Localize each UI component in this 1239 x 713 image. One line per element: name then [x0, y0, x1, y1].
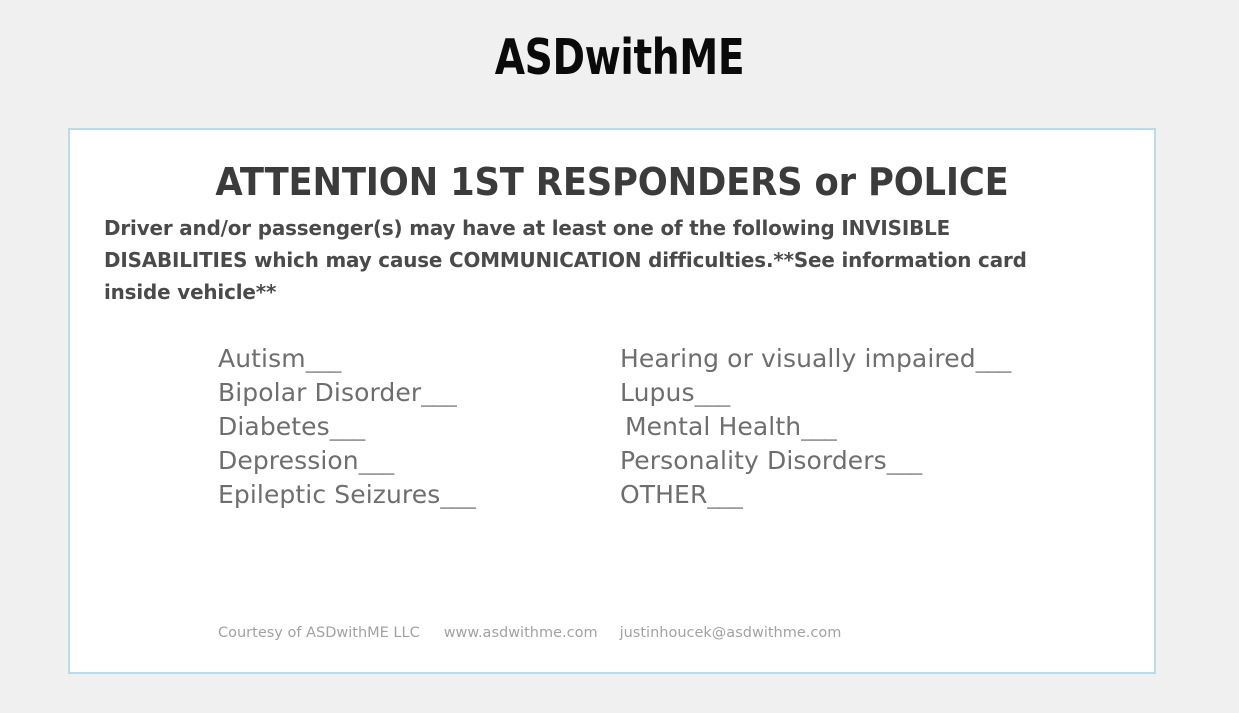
- footer-email-link[interactable]: justinhoucek@asdwithme.com: [620, 623, 842, 643]
- condition-blank-line[interactable]: ___: [330, 412, 365, 441]
- condition-item[interactable]: Autism___: [218, 342, 475, 376]
- body-line-3: inside vehicle**: [104, 276, 1101, 308]
- body-line-2: DISABILITIES which may cause COMMUNICATI…: [104, 244, 1101, 276]
- body-line-1: Driver and/or passenger(s) may have at l…: [104, 212, 1101, 244]
- condition-blank-line[interactable]: ___: [801, 412, 836, 441]
- condition-item[interactable]: OTHER___: [620, 478, 1010, 512]
- conditions-column-right: Hearing or visually impaired___ Lupus___…: [620, 342, 1010, 512]
- condition-item[interactable]: Bipolar Disorder___: [218, 376, 475, 410]
- condition-label: Hearing or visually impaired: [620, 344, 976, 373]
- condition-blank-line[interactable]: ___: [306, 344, 341, 373]
- page-title: ASDwithME: [124, 30, 1115, 86]
- condition-item[interactable]: Epileptic Seizures___: [218, 478, 475, 512]
- footer-website-link[interactable]: www.asdwithme.com: [444, 623, 598, 643]
- condition-label: Autism: [218, 344, 306, 373]
- condition-blank-line[interactable]: ___: [359, 446, 394, 475]
- card-heading: ATTENTION 1ST RESPONDERS or POLICE: [108, 160, 1116, 204]
- condition-label: Epileptic Seizures: [218, 480, 440, 509]
- condition-item[interactable]: Personality Disorders___: [620, 444, 1010, 478]
- condition-item[interactable]: Mental Health___: [620, 410, 1010, 444]
- condition-label: Lupus: [620, 378, 695, 407]
- condition-label: Bipolar Disorder: [218, 378, 421, 407]
- condition-blank-line[interactable]: ___: [887, 446, 922, 475]
- condition-blank-line[interactable]: ___: [695, 378, 730, 407]
- condition-blank-line[interactable]: ___: [707, 480, 742, 509]
- conditions-column-left: Autism___ Bipolar Disorder___ Diabetes__…: [218, 342, 475, 512]
- footer-courtesy: Courtesy of ASDwithME LLC: [218, 623, 420, 643]
- condition-label: Depression: [218, 446, 359, 475]
- condition-item[interactable]: Depression___: [218, 444, 475, 478]
- card-footer: Courtesy of ASDwithME LLCwww.asdwithme.c…: [218, 623, 1118, 643]
- condition-label: Mental Health: [625, 412, 801, 441]
- responder-info-card: ATTENTION 1ST RESPONDERS or POLICE Drive…: [68, 128, 1156, 674]
- condition-label: Personality Disorders: [620, 446, 887, 475]
- condition-blank-line[interactable]: ___: [976, 344, 1011, 373]
- condition-label: OTHER: [620, 480, 707, 509]
- condition-label: Diabetes: [218, 412, 330, 441]
- condition-item[interactable]: Hearing or visually impaired___: [620, 342, 1010, 376]
- condition-blank-line[interactable]: ___: [440, 480, 475, 509]
- conditions-list: Autism___ Bipolar Disorder___ Diabetes__…: [70, 342, 1154, 522]
- condition-item[interactable]: Diabetes___: [218, 410, 475, 444]
- condition-item[interactable]: Lupus___: [620, 376, 1010, 410]
- card-body-paragraph: Driver and/or passenger(s) may have at l…: [104, 212, 1101, 308]
- condition-blank-line[interactable]: ___: [421, 378, 456, 407]
